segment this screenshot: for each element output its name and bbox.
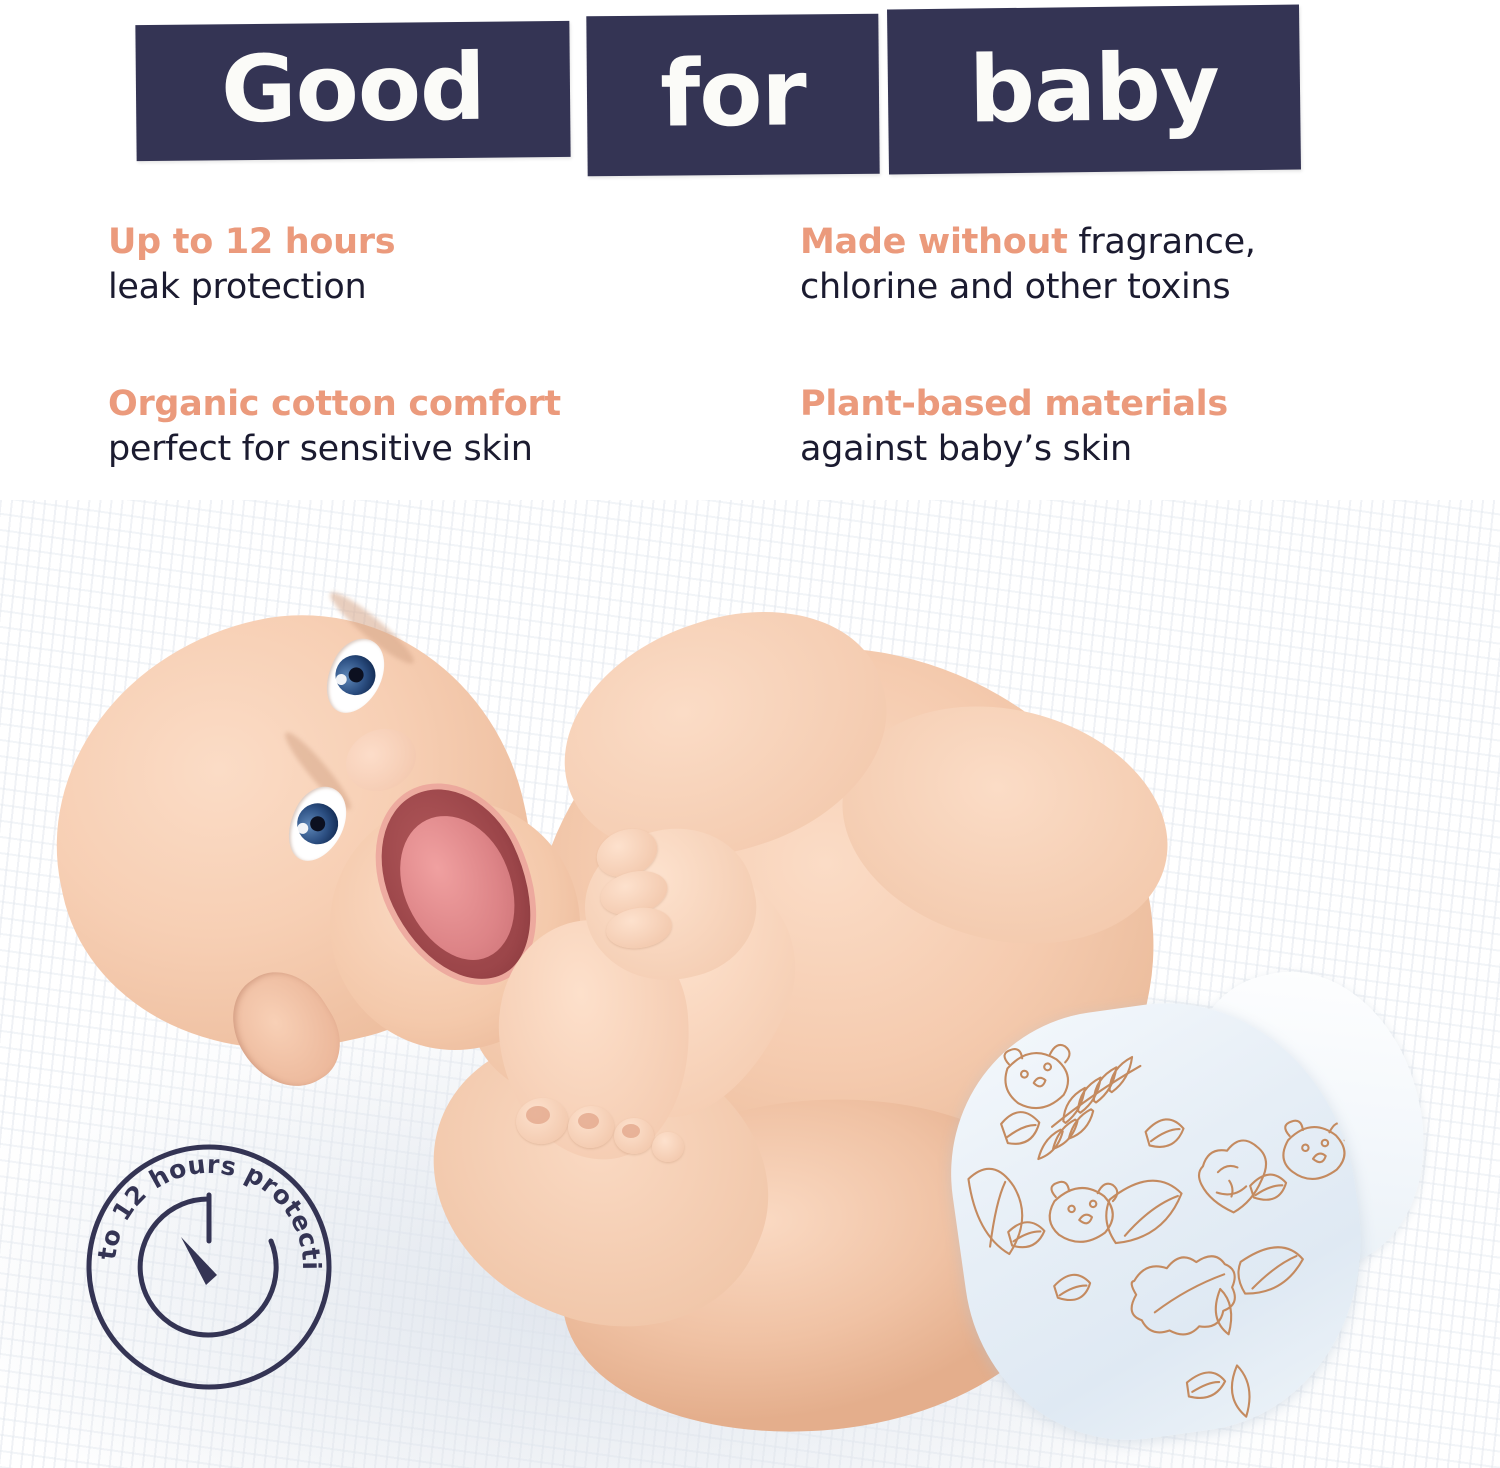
good-for-baby-product-banner: Good for baby Up to 12 hours leak protec…	[0, 0, 1500, 1468]
feature-list: Up to 12 hours leak protection Made with…	[0, 210, 1500, 510]
feature-organic-cotton: Organic cotton comfort perfect for sensi…	[108, 382, 728, 472]
feature-highlight: Plant-based materials	[800, 384, 1228, 424]
feature-headline: Plant-based materials	[800, 382, 1420, 427]
badge-curved-text: up to 12 hours protection	[85, 1143, 326, 1271]
baby-toe	[652, 1132, 684, 1162]
clock-timer-icon: up to 12 hours protection	[85, 1143, 333, 1391]
headline-block-baby: baby	[887, 4, 1301, 174]
feature-plant-based: Plant-based materials against baby’s ski…	[800, 382, 1420, 472]
feature-leak-protection: Up to 12 hours leak protection	[108, 220, 728, 310]
badge-curved-text-path: up to 12 hours protection	[85, 1143, 326, 1271]
feature-subtext: against baby’s skin	[800, 427, 1420, 472]
feature-highlight: Made without	[800, 222, 1068, 262]
baby-toenail	[622, 1124, 640, 1138]
feature-made-without: Made without fragrance, chlorine and oth…	[800, 220, 1420, 310]
feature-headline: Organic cotton comfort	[108, 382, 728, 427]
headline-block-for: for	[586, 14, 879, 177]
diaper	[930, 979, 1386, 1460]
headline-block-good: Good	[135, 21, 570, 161]
feature-subtext: leak protection	[108, 265, 728, 310]
twelve-hour-protection-badge: up to 12 hours protection	[85, 1143, 333, 1391]
feature-subtext: chlorine and other toxins	[800, 265, 1420, 310]
feature-subtext: perfect for sensitive skin	[108, 427, 728, 472]
feature-rest: fragrance,	[1068, 222, 1256, 262]
baby-toenail	[578, 1113, 599, 1129]
feature-headline: Up to 12 hours	[108, 220, 728, 265]
headline: Good for baby	[0, 0, 1500, 200]
headline-word-good: Good	[221, 42, 486, 137]
headline-word-baby: baby	[969, 41, 1220, 136]
feature-highlight: Organic cotton comfort	[108, 384, 561, 424]
diaper-leaf-pattern	[930, 979, 1386, 1460]
feature-headline: Made without fragrance,	[800, 220, 1420, 265]
baby-toenail	[526, 1106, 550, 1124]
feature-highlight: Up to 12 hours	[108, 222, 395, 262]
clock-hand	[181, 1237, 217, 1285]
headline-word-for: for	[660, 47, 806, 140]
